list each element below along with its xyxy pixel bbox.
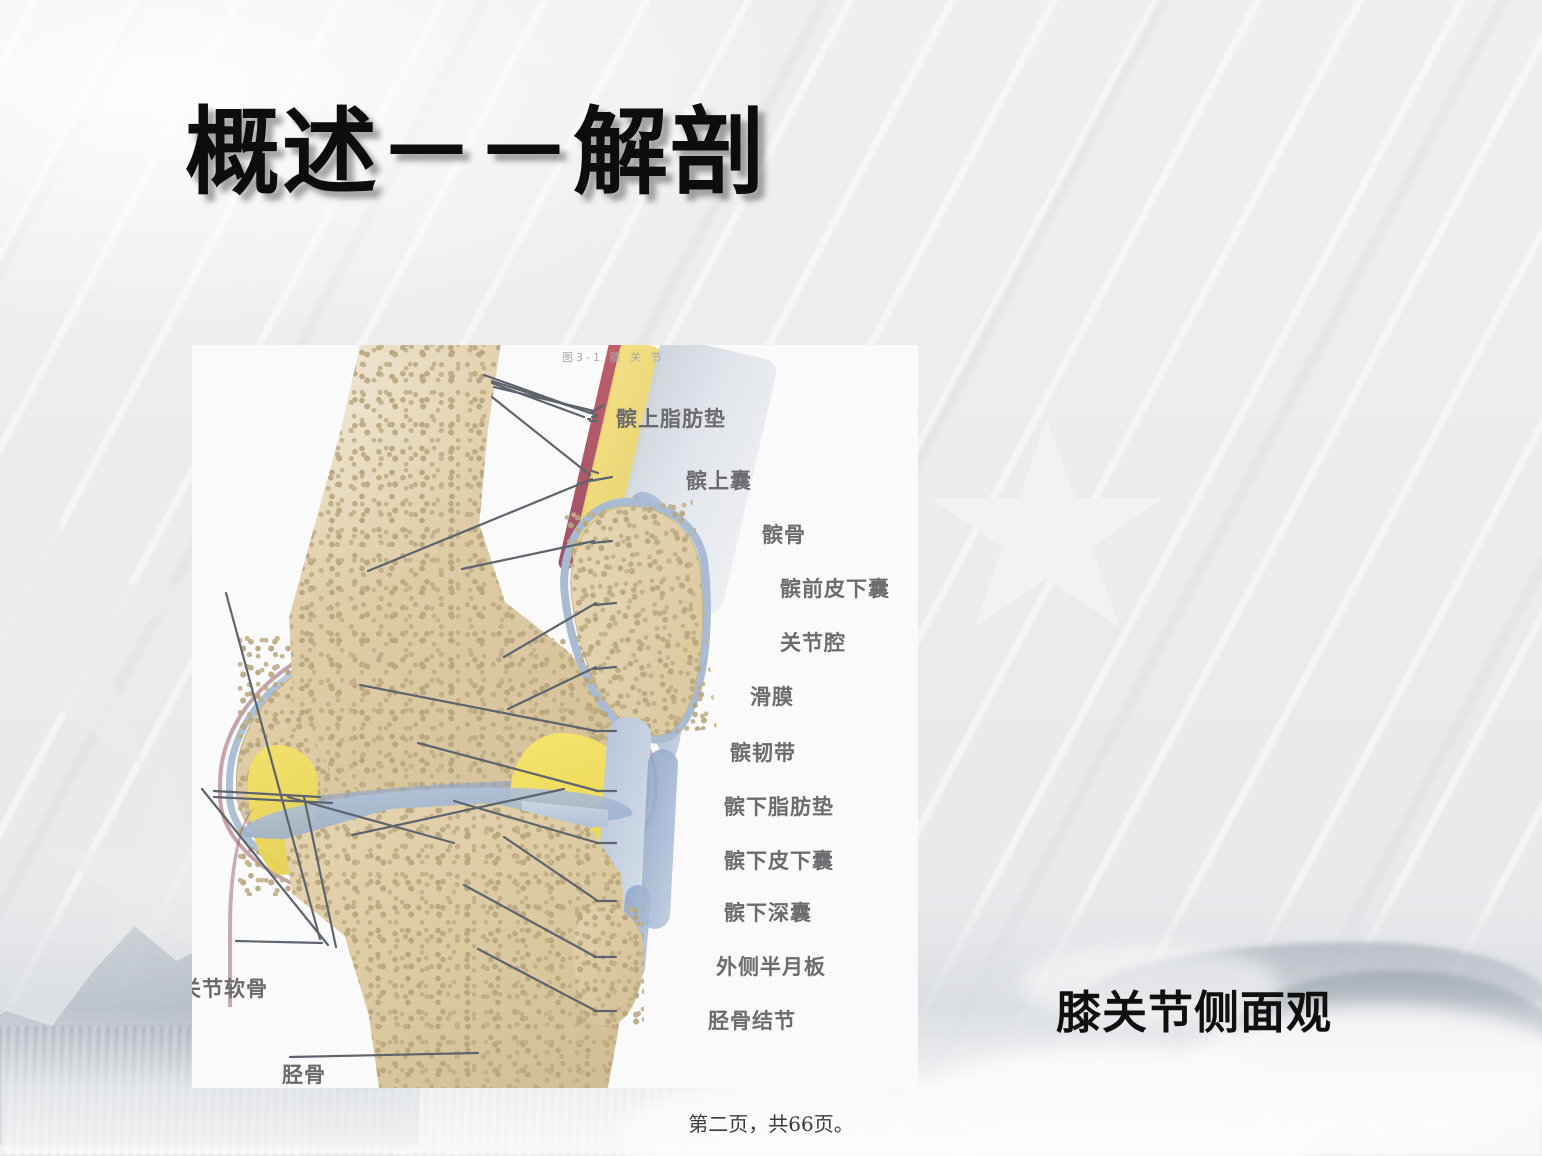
figure-label-tibial-tuberosity: 胫骨结节 <box>708 1005 796 1035</box>
figure-label-infrapatellar-fat-pad: 髌下脂肪垫 <box>724 791 834 821</box>
slide-canvas: 概述－－解剖 <box>0 0 1542 1156</box>
figure-label-suprapatellar-bursa: 髌上囊 <box>686 465 752 495</box>
figure-label-deep-infrapatellar-bursa: 髌下深囊 <box>724 897 812 927</box>
figure-label-tibia: 胫骨 <box>282 1059 326 1088</box>
figure-label-prepatellar-bursa: 髌前皮下囊 <box>780 573 890 603</box>
figure-label-infrapatellar-subcutaneous-bursa: 髌下皮下囊 <box>724 845 834 875</box>
knee-anatomy-figure: 图3-1 膝 关 节 髌上脂肪垫 髌上囊 髌骨 髌前皮下囊 关节腔 滑膜 髌韧带… <box>192 345 918 1088</box>
figure-label-synovium: 滑膜 <box>750 681 794 711</box>
figure-label-suprapatellar-fat-pad: 髌上脂肪垫 <box>616 403 726 433</box>
figure-inner-canvas: 图3-1 膝 关 节 髌上脂肪垫 髌上囊 髌骨 髌前皮下囊 关节腔 滑膜 髌韧带… <box>192 345 918 1088</box>
page-footer: 第二页，共66页。 <box>0 1108 1542 1137</box>
figure-label-patellar-ligament: 髌韧带 <box>730 737 796 767</box>
figure-header-caption: 图3-1 膝 关 节 <box>562 349 664 365</box>
page-title: 概述－－解剖 <box>185 104 767 204</box>
figure-label-joint-cavity: 关节腔 <box>780 627 846 657</box>
figure-label-lateral-meniscus: 外侧半月板 <box>716 951 826 981</box>
figure-label-patella: 髌骨 <box>762 519 806 549</box>
figure-label-articular-cartilage: 关节软骨 <box>192 973 268 1003</box>
figure-caption: 膝关节侧面观 <box>1056 976 1332 1041</box>
